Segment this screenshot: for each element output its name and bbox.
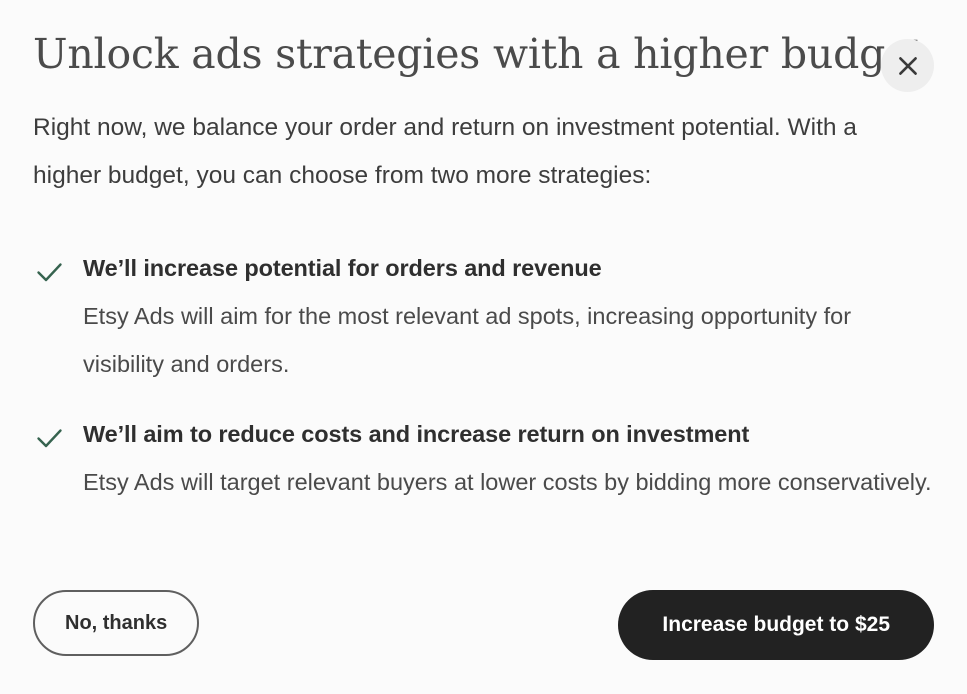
budget-upgrade-modal: Unlock ads strategies with a higher budg… xyxy=(0,0,967,694)
benefit-title: We’ll aim to reduce costs and increase r… xyxy=(83,416,933,452)
modal-header: Unlock ads strategies with a higher budg… xyxy=(33,28,934,98)
check-icon xyxy=(36,425,63,452)
benefit-description: Etsy Ads will target relevant buyers at … xyxy=(83,458,933,506)
intro-paragraph: Right now, we balance your order and ret… xyxy=(33,104,875,200)
modal-footer: No, thanks Increase budget to $25 xyxy=(33,590,934,656)
page-title: Unlock ads strategies with a higher budg… xyxy=(33,28,934,80)
list-item: We’ll aim to reduce costs and increase r… xyxy=(33,416,933,506)
benefit-list: We’ll increase potential for orders and … xyxy=(33,250,933,506)
no-thanks-button[interactable]: No, thanks xyxy=(33,590,199,656)
list-item: We’ll increase potential for orders and … xyxy=(33,250,933,388)
benefit-description: Etsy Ads will aim for the most relevant … xyxy=(83,292,933,388)
close-button[interactable] xyxy=(881,39,934,92)
increase-budget-button[interactable]: Increase budget to $25 xyxy=(618,590,934,660)
check-icon xyxy=(36,259,63,286)
benefit-title: We’ll increase potential for orders and … xyxy=(83,250,933,286)
close-icon xyxy=(897,55,919,77)
